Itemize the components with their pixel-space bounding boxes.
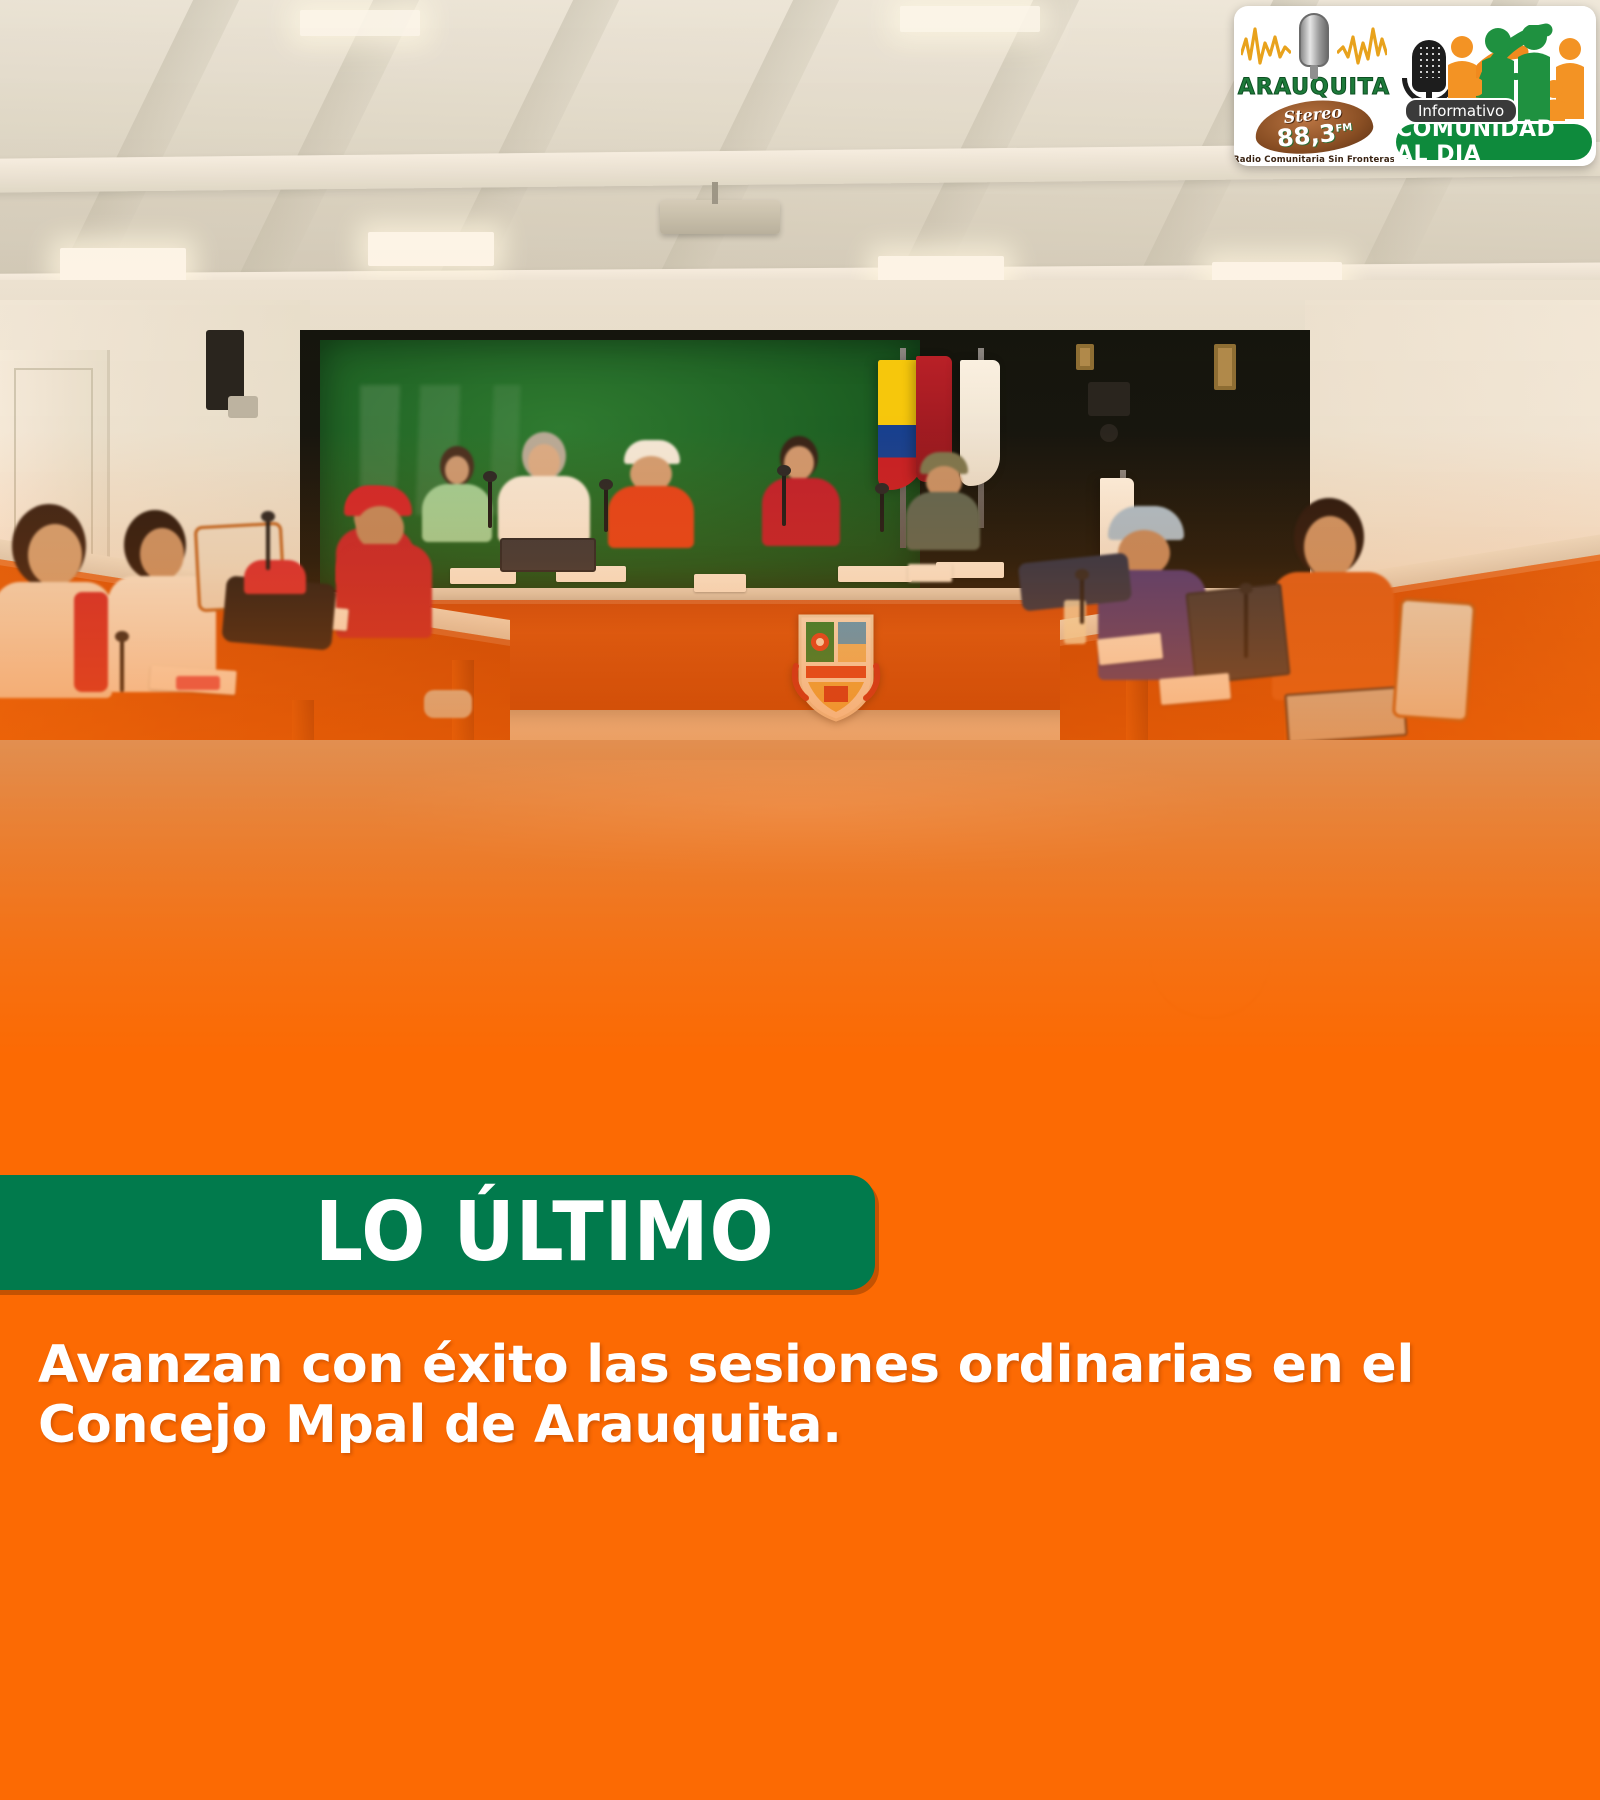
laptop [1185, 583, 1290, 685]
municipal-coat-of-arms [790, 612, 882, 722]
sound-wave-left-icon [1241, 25, 1291, 69]
face [528, 444, 560, 480]
breaking-news-banner: LO ÚLTIMO [0, 1175, 875, 1290]
arauquita-stereo-logo: ARAUQUITA Stereo 88,3FM Radio Comunitari… [1234, 7, 1394, 165]
microphone [488, 480, 492, 528]
news-poster: ARAUQUITA Stereo 88,3FM Radio Comunitari… [0, 0, 1600, 1800]
sound-wave-right-icon [1337, 25, 1387, 69]
torso [336, 544, 432, 638]
torso [1272, 572, 1394, 700]
face [140, 528, 184, 580]
torso [762, 478, 840, 546]
microphone [782, 474, 786, 526]
ceiling-light-panel [60, 248, 186, 282]
face [784, 446, 814, 480]
cocoa-pod-shape: Stereo 88,3FM [1253, 95, 1376, 159]
paper-document [908, 564, 952, 582]
torso [608, 486, 694, 548]
microphone [604, 488, 608, 532]
informativo-pill: Informativo [1404, 98, 1518, 124]
person-seated [336, 486, 432, 636]
headline-text: Avanzan con éxito las sesiones ordinaria… [38, 1335, 1508, 1456]
banner-label: LO ÚLTIMO [315, 1192, 775, 1274]
ceiling-projector [660, 200, 780, 234]
station-logo-badge[interactable]: ARAUQUITA Stereo 88,3FM Radio Comunitari… [1234, 6, 1596, 166]
torso [498, 476, 590, 542]
face [28, 524, 82, 586]
frequency-number: 88,3 [1276, 119, 1338, 153]
station-name: ARAUQUITA [1238, 77, 1390, 99]
microphone-grille [1418, 45, 1440, 78]
microphone-stand-icon [1310, 65, 1318, 79]
microphone [266, 520, 270, 570]
torso [422, 484, 492, 542]
person-seated [0, 504, 112, 694]
microphone [880, 492, 884, 532]
person-seated [422, 446, 492, 538]
laptop [500, 538, 596, 572]
frequency: 88,3FM [1276, 119, 1354, 151]
person-seated [1272, 498, 1394, 698]
person-seated [498, 432, 590, 540]
microphone [1080, 578, 1084, 624]
torso [906, 492, 980, 550]
wall-plaque [1076, 344, 1094, 370]
ceiling-light-panel [900, 6, 1040, 32]
pink-object [176, 676, 220, 690]
ceiling-light-panel [368, 232, 494, 266]
band-label: FM [1335, 122, 1353, 135]
face [445, 456, 469, 484]
red-cap-on-table [244, 560, 306, 594]
paper-document [838, 566, 912, 582]
paper-document [694, 574, 746, 592]
ceiling-light-panel [300, 10, 420, 36]
projector-mount [712, 182, 718, 204]
comunidad-al-dia-logo: Informativo COMUNIDAD AL DIA [1394, 6, 1594, 166]
wall-plaque [1214, 344, 1236, 390]
floor-reflection [360, 760, 1240, 880]
microphone [1244, 592, 1248, 658]
person-seated [608, 440, 694, 546]
wall-panel [228, 396, 258, 418]
program-title: COMUNIDAD AL DIA [1396, 117, 1592, 166]
microphone [120, 640, 124, 692]
face [1304, 516, 1356, 578]
station-tagline: Radio Comunitaria Sin Fronteras [1234, 155, 1395, 165]
person-speaking [762, 436, 840, 544]
retro-microphone-icon [1299, 13, 1329, 67]
council-chamber-photo [0, 0, 1600, 1110]
comunidad-al-dia-bar: COMUNIDAD AL DIA [1396, 124, 1592, 160]
wall-camera [1100, 424, 1118, 442]
chair [1392, 597, 1476, 722]
mic-and-waves [1239, 7, 1389, 77]
shoe [424, 690, 472, 718]
wall-speaker [1088, 382, 1130, 416]
shirt-accent [74, 592, 108, 692]
person-seated [906, 452, 980, 548]
laptop-keyboard [1284, 686, 1407, 744]
